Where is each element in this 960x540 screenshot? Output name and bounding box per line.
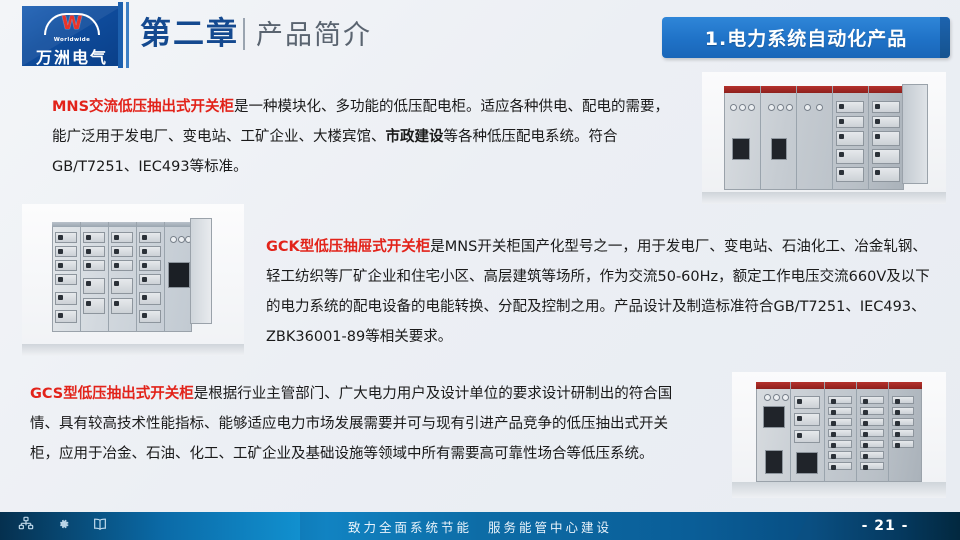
paragraph-mns-bold: 市政建设	[386, 129, 444, 145]
paragraph-mns-keyword: MNS交流低压抽出式开关柜	[52, 99, 234, 115]
paragraph-gck: GCK型低压抽屉式开关柜是MNS开关柜国产化型号之一，用于发电厂、变电站、石油化…	[266, 232, 938, 352]
topic-tab[interactable]: 1.电力系统自动化产品	[662, 17, 950, 58]
company-logo: W Worldwide 万洲电气	[22, 6, 122, 66]
paragraph-mns: MNS交流低压抽出式开关柜是一种模块化、多功能的低压配电柜。适应各种供电、配电的…	[52, 92, 672, 182]
topic-tab-label: 1.电力系统自动化产品	[705, 24, 907, 51]
w-shield-logo-icon: W	[44, 11, 100, 37]
paragraph-gcs-keyword: GCS型低压抽出式开关柜	[30, 386, 194, 402]
footer-slogan-left: 致力全面系统节能	[348, 517, 472, 536]
chapter-subtitle: 产品简介	[256, 16, 372, 56]
logo-company-name: 万洲电气	[22, 44, 122, 66]
chapter-title: 第二章	[140, 14, 239, 54]
mns-switchgear-photo	[702, 72, 946, 204]
gcs-switchgear-photo	[732, 372, 946, 498]
logo-emblem-letter: W	[44, 14, 100, 33]
slide-header: W Worldwide 万洲电气 第二章 产品简介 1.电力系统自动化产品	[0, 0, 960, 74]
footer-slogan-right: 服务能管中心建设	[488, 517, 612, 536]
page-number: - 21 -	[862, 518, 909, 534]
header-accent-bar-secondary	[126, 2, 129, 68]
title-divider	[243, 18, 245, 50]
paragraph-gcs: GCS型低压抽出式开关柜是根据行业主管部门、广大电力用户及设计单位的要求设计研制…	[30, 379, 675, 469]
paragraph-gck-keyword: GCK型低压抽屉式开关柜	[266, 239, 430, 255]
logo-latin-name: Worldwide	[22, 37, 122, 43]
page-number-panel: - 21 -	[810, 512, 960, 540]
header-accent-bar	[118, 2, 123, 68]
slide-footer: 致力全面系统节能 服务能管中心建设 - 21 -	[0, 512, 960, 540]
gck-switchgear-photo	[22, 204, 244, 356]
slide: W Worldwide 万洲电气 第二章 产品简介 1.电力系统自动化产品 MN…	[0, 0, 960, 540]
